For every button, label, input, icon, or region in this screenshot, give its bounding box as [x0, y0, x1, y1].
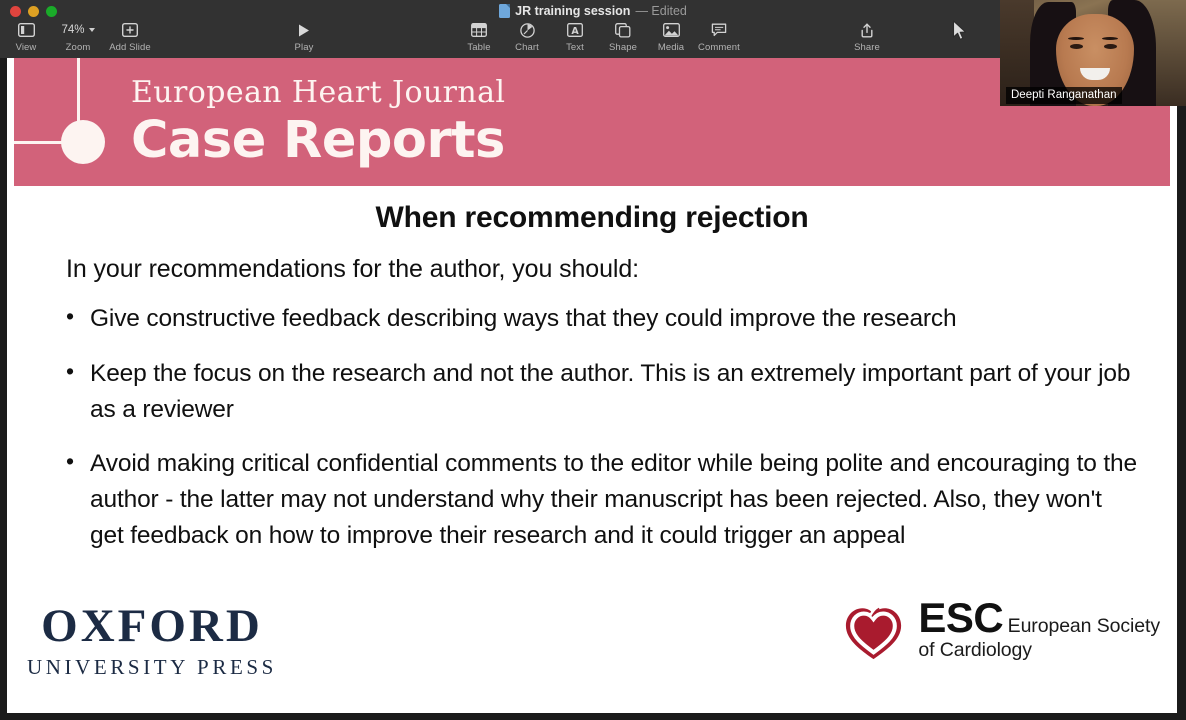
journal-series: Case Reports — [131, 114, 505, 168]
media-icon — [663, 20, 680, 40]
chart-button[interactable]: Chart — [503, 20, 551, 53]
svg-text:A: A — [571, 26, 579, 37]
table-icon — [471, 20, 487, 40]
zoom-label: Zoom — [66, 42, 91, 53]
oup-subtitle: UNIVERSITY PRESS — [27, 657, 277, 678]
view-label: View — [16, 42, 37, 53]
webcam-video-overlay[interactable]: Deepti Ranganathan — [1000, 0, 1186, 106]
shape-icon — [615, 20, 631, 40]
masthead-text: European Heart Journal Case Reports — [131, 74, 505, 167]
bullet-text: Give constructive feedback describing wa… — [90, 301, 957, 337]
toolbar-share-group: Share — [843, 20, 891, 53]
sidebar-view-icon — [18, 20, 35, 40]
esc-text-block: ESC European Society of Cardiology — [918, 598, 1160, 663]
list-item: • Give constructive feedback describing … — [66, 301, 1141, 337]
share-label: Share — [854, 42, 880, 53]
masthead-circle-mark — [61, 120, 105, 164]
view-button[interactable]: View — [2, 20, 50, 53]
comment-label: Comment — [698, 42, 740, 53]
toolbar-insert-group: Table Chart A — [455, 20, 743, 53]
table-button[interactable]: Table — [455, 20, 503, 53]
webcam-brow-right — [1102, 37, 1118, 40]
share-icon — [860, 20, 874, 40]
webcam-eye-left — [1070, 44, 1083, 49]
add-slide-icon — [122, 20, 138, 40]
play-label: Play — [295, 42, 314, 53]
table-label: Table — [467, 42, 490, 53]
slide-canvas[interactable]: European Heart Journal Case Reports When… — [7, 58, 1177, 713]
media-button[interactable]: Media — [647, 20, 695, 53]
shape-label: Shape — [609, 42, 637, 53]
text-button[interactable]: A Text — [551, 20, 599, 53]
slide-bullet-list: • Give constructive feedback describing … — [66, 301, 1141, 573]
journal-name: European Heart Journal — [131, 74, 505, 112]
zoom-value-wrap[interactable]: 74% — [61, 20, 94, 40]
chart-label: Chart — [515, 42, 539, 53]
mouse-cursor-icon — [952, 20, 968, 47]
esc-name-line2: of Cardiology — [918, 639, 1032, 661]
share-button[interactable]: Share — [843, 20, 891, 53]
heart-icon — [843, 601, 905, 663]
bullet-marker-icon: • — [66, 446, 76, 553]
esc-logo: ESC European Society of Cardiology — [843, 598, 1160, 663]
toolbar-play-group: Play — [280, 20, 328, 53]
text-label: Text — [566, 42, 584, 53]
journal-masthead: European Heart Journal Case Reports — [14, 58, 1170, 186]
esc-name-line1: European Society — [1008, 615, 1160, 637]
bullet-marker-icon: • — [66, 301, 76, 337]
chevron-down-icon — [89, 28, 95, 32]
add-slide-button[interactable]: Add Slide — [106, 20, 154, 53]
zoom-value: 74% — [61, 24, 84, 36]
play-icon — [297, 20, 311, 40]
document-icon — [499, 4, 510, 18]
list-item: • Keep the focus on the research and not… — [66, 356, 1141, 428]
bullet-text: Avoid making critical confidential comme… — [90, 446, 1141, 553]
document-title: JR training session — [515, 4, 630, 18]
bullet-marker-icon: • — [66, 356, 76, 428]
esc-abbreviation: ESC — [918, 594, 1003, 641]
add-slide-label: Add Slide — [109, 42, 151, 53]
toolbar-left-group: View 74% Zoom Add Slide — [2, 20, 154, 53]
oup-wordmark: OXFORD — [27, 603, 277, 650]
document-edited-state: — Edited — [635, 4, 686, 18]
comment-button[interactable]: Comment — [695, 20, 743, 53]
slide-lead-text: In your recommendations for the author, … — [66, 255, 1126, 284]
play-button[interactable]: Play — [280, 20, 328, 53]
comment-icon — [711, 20, 727, 40]
oxford-university-press-logo: OXFORD UNIVERSITY PRESS — [27, 603, 277, 678]
keynote-window: JR training session — Edited View 74% — [0, 0, 1186, 720]
text-icon: A — [567, 20, 583, 40]
bullet-text: Keep the focus on the research and not t… — [90, 356, 1141, 428]
webcam-eye-right — [1104, 44, 1117, 49]
media-label: Media — [658, 42, 684, 53]
participant-name-label: Deepti Ranganathan — [1006, 87, 1122, 104]
webcam-brow-left — [1068, 37, 1084, 40]
zoom-control[interactable]: 74% Zoom — [50, 20, 106, 53]
chart-icon — [520, 20, 535, 40]
slide-title: When recommending rejection — [7, 201, 1177, 235]
list-item: • Avoid making critical confidential com… — [66, 446, 1141, 553]
shape-button[interactable]: Shape — [599, 20, 647, 53]
